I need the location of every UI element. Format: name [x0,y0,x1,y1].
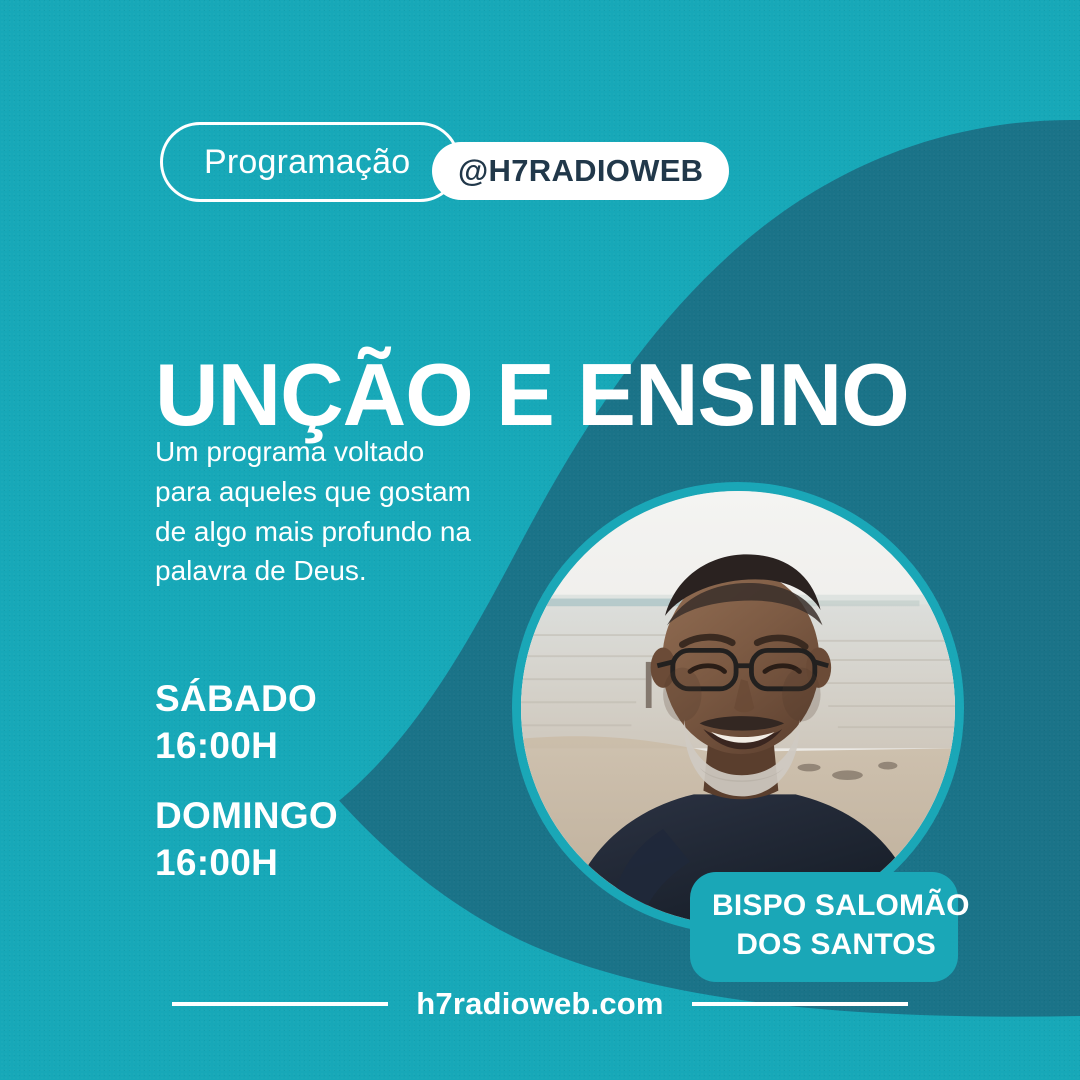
host-name-line-1: BISPO SALOMÃO [712,886,936,925]
footer-rule-right [692,1002,908,1006]
footer-rule-left [172,1002,388,1006]
host-photo [512,482,964,934]
schedule-day: SÁBADO [155,676,338,723]
schedule-time: 16:00H [155,840,338,887]
program-poster: Programação @H7RADIOWEB UNÇÃO E ENSINO U… [0,0,1080,1080]
schedule-time: 16:00H [155,723,338,770]
schedule-item: DOMINGO 16:00H [155,793,338,886]
schedule-list: SÁBADO 16:00H DOMINGO 16:00H [155,676,338,886]
host-portrait-image [521,491,955,925]
schedule-day: DOMINGO [155,793,338,840]
website-url[interactable]: h7radioweb.com [416,986,663,1022]
description-line: para aqueles que gostam [155,472,515,512]
host-name-badge: BISPO SALOMÃO DOS SANTOS [690,872,958,982]
description-line: de algo mais profundo na [155,512,515,552]
portrait-artwork [521,491,955,925]
program-description: Um programa voltado para aqueles que gos… [155,432,515,591]
schedule-item: SÁBADO 16:00H [155,676,338,769]
host-photo-ring [512,482,964,934]
program-title: UNÇÃO E ENSINO [155,351,909,439]
description-line: palavra de Deus. [155,551,515,591]
description-line: Um programa voltado [155,432,515,472]
footer: h7radioweb.com [0,986,1080,1022]
host-name-line-2: DOS SANTOS [712,925,936,964]
programacao-label: Programação [204,122,410,202]
radio-handle-badge[interactable]: @H7RADIOWEB [432,142,729,200]
